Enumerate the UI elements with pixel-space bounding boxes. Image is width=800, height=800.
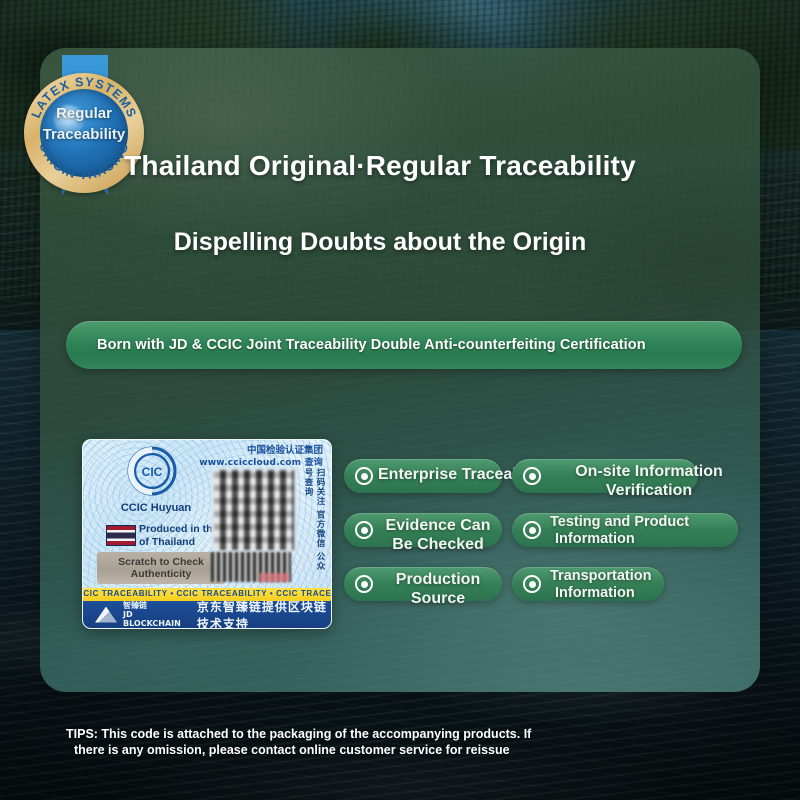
barcode-highlight [259, 573, 289, 582]
feature-pill-evidence-can-be-checked[interactable]: Evidence CanBe Checked [344, 513, 502, 547]
feature-pill-production-source[interactable]: ProductionSource [344, 567, 502, 601]
bullet-icon [523, 575, 541, 593]
thailand-flag-icon [106, 525, 136, 546]
certification-banner-label: Born with JD & CCIC Joint Traceability D… [97, 337, 646, 353]
feature-pill-enterprise-traceability[interactable]: Enterprise Traceability [344, 459, 502, 493]
feature-pill-label: TransportationInformation [550, 568, 652, 602]
scratch-panel[interactable]: Scratch to Check Authenticity [97, 552, 225, 584]
bullet-icon [355, 467, 373, 485]
feature-pill-label: Testing and ProductInformation [550, 514, 689, 548]
page-title: Thailand Original·Regular Traceability [40, 150, 720, 182]
certificate-brand: CCIC Huyuan [101, 502, 211, 514]
certificate-org-block: 中国检验认证集团 www.cciccloud.com 查询 [199, 445, 323, 469]
feature-pill-label: ProductionSource [374, 570, 502, 608]
feature-pill-testing-and-product-information[interactable]: Testing and ProductInformation [512, 513, 738, 547]
page-subtitle: Dispelling Doubts about the Origin [40, 228, 720, 257]
badge-center-text: Regular Traceability [24, 103, 144, 145]
feature-pill-onsite-information-verification[interactable]: On-site InformationVerification [512, 459, 698, 493]
feature-pill-transportation-information[interactable]: TransportationInformation [512, 567, 664, 601]
jd-mark-label: 智臻链 JD BLOCKCHAIN [123, 601, 181, 628]
scratch-panel-label: Scratch to Check Authenticity [118, 556, 204, 581]
cic-logo-icon: CIC [119, 446, 185, 498]
certificate-footer-label: 京东智臻链提供区块链技术支持 [197, 598, 331, 630]
certificate-footer: 智臻链 JD BLOCKCHAIN 京东智臻链提供区块链技术支持 [83, 601, 331, 628]
page-root: LATEX SYSTEMS ORIGIN TRACING Regular Tra… [0, 0, 800, 800]
traceability-badge: LATEX SYSTEMS ORIGIN TRACING Regular Tra… [18, 55, 150, 205]
badge-center-line1: Regular [24, 103, 144, 124]
tips-text: TIPS: This code is attached to the packa… [66, 726, 666, 758]
ccic-certificate-card[interactable]: 中国检验认证集团 www.cciccloud.com 查询 CIC CCIC H… [82, 439, 332, 629]
certificate-org-name: 中国检验认证集团 [199, 445, 323, 457]
tips-line1: TIPS: This code is attached to the packa… [66, 727, 531, 741]
feature-pill-label: On-site InformationVerification [534, 462, 764, 500]
cic-logo-label: CIC [142, 465, 163, 479]
feature-pill-label: Evidence CanBe Checked [374, 516, 502, 554]
certification-banner: Born with JD & CCIC Joint Traceability D… [66, 321, 742, 369]
bullet-icon [355, 575, 373, 593]
jd-blockchain-icon [95, 607, 117, 623]
certificate-vertical-note: 扫码关注 官方微信 公众号查询 [313, 468, 326, 578]
badge-center-line2: Traceability [24, 124, 144, 145]
bullet-icon [355, 521, 373, 539]
bullet-icon [523, 521, 541, 539]
qr-code-icon[interactable] [211, 467, 297, 553]
tips-line2: there is any omission, please contact on… [66, 742, 666, 758]
